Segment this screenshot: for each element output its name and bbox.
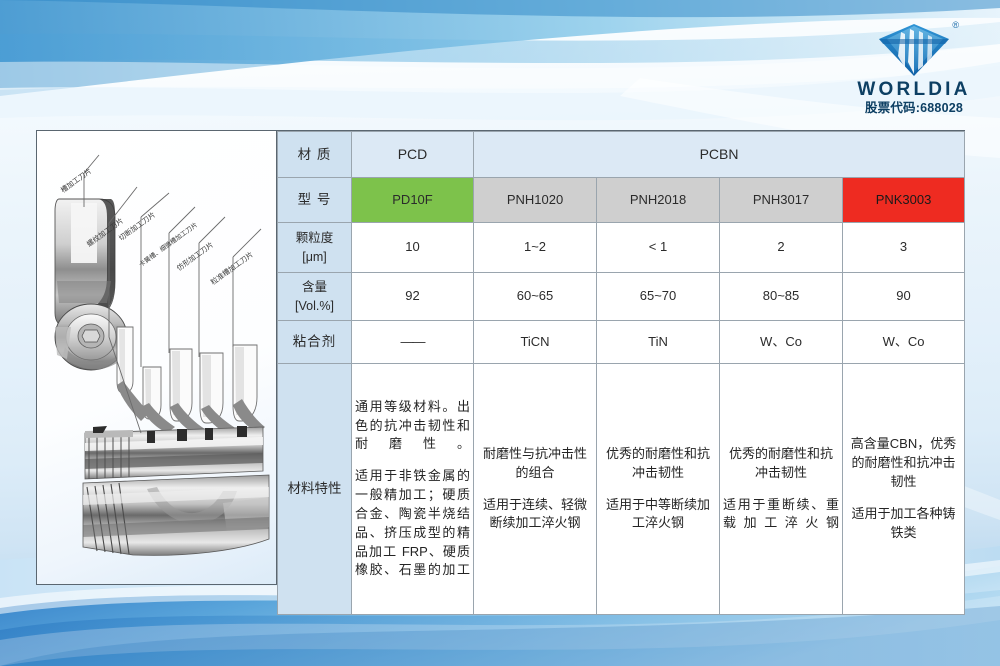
table-row-properties: 材料特性 通用等级材料。出色的抗冲击韧性和耐磨性。 适用于非铁金属的一般精加工；…	[278, 364, 965, 615]
material-group-pcd: PCD	[352, 132, 474, 178]
properties-para-0-1: 适用于非铁金属的一般精加工；硬质合金、陶瓷半烧结品、挤压成型的精品加工 FRP、…	[355, 467, 470, 580]
properties-para-2-0: 优秀的耐磨性和抗冲击韧性	[600, 445, 716, 483]
grain-cell-2: < 1	[597, 223, 720, 273]
row-label-model: 型 号	[278, 178, 352, 223]
content-cell-0: 92	[352, 273, 474, 321]
table-row-model: 型 号 PD10F PNH1020 PNH2018 PNH3017 PNK300…	[278, 178, 965, 223]
table-row-binder: 粘合剂 —— TiCN TiN W、Co W、Co	[278, 321, 965, 364]
diagram-label-4: 仿形加工刀片	[175, 240, 215, 273]
properties-para-1-1: 适用于连续、轻微断续加工淬火钢	[477, 496, 593, 534]
grain-label-unit: [μm]	[281, 248, 348, 266]
table-row-content: 含量 [Vol.%] 92 60~65 65~70 80~85 90	[278, 273, 965, 321]
properties-cell-1: 耐磨性与抗冲击性的组合 适用于连续、轻微断续加工淬火钢	[474, 364, 597, 615]
properties-cell-0: 通用等级材料。出色的抗冲击韧性和耐磨性。 适用于非铁金属的一般精加工；硬质合金、…	[352, 364, 474, 615]
row-label-grain-size: 颗粒度 [μm]	[278, 223, 352, 273]
model-cell-pnh3017[interactable]: PNH3017	[720, 178, 843, 223]
properties-cell-2: 优秀的耐磨性和抗冲击韧性 适用于中等断续加工淬火钢	[597, 364, 720, 615]
grain-cell-3: 2	[720, 223, 843, 273]
binder-cell-0: ——	[352, 321, 474, 364]
tool-illustration-pane: 槽加工刀片 螺纹加工刀片 切断加工刀片 卡簧槽、细微槽加工刀片 仿形加工刀片 粒…	[37, 131, 277, 584]
row-label-binder: 粘合剂	[278, 321, 352, 364]
binder-cell-3: W、Co	[720, 321, 843, 364]
content-label-main: 含量	[281, 278, 348, 296]
content-cell-1: 60~65	[474, 273, 597, 321]
properties-para-3-1: 适用于重断续、重载加工淬火钢	[723, 496, 839, 534]
row-label-content: 含量 [Vol.%]	[278, 273, 352, 321]
table-row-grain-size: 颗粒度 [μm] 10 1~2 < 1 2 3	[278, 223, 965, 273]
grain-label-main: 颗粒度	[281, 229, 348, 247]
properties-para-1-0: 耐磨性与抗冲击性的组合	[477, 445, 593, 483]
model-cell-pnk3003[interactable]: PNK3003	[843, 178, 965, 223]
workpiece-shaft	[83, 426, 269, 555]
material-spec-table: 材 质 PCD PCBN 型 号 PD10F PNH1020 PNH2018 P…	[277, 131, 965, 615]
binder-cell-1: TiCN	[474, 321, 597, 364]
grain-cell-0: 10	[352, 223, 474, 273]
model-cell-pnh2018[interactable]: PNH2018	[597, 178, 720, 223]
brand-logo: ® WORLDIA 股票代码:688028	[848, 22, 980, 115]
row-label-properties: 材料特性	[278, 364, 352, 615]
diagram-label-5: 粒准槽加工刀片	[209, 250, 255, 287]
content-cell-2: 65~70	[597, 273, 720, 321]
content-cell-3: 80~85	[720, 273, 843, 321]
row-label-material: 材 质	[278, 132, 352, 178]
properties-cell-3: 优秀的耐磨性和抗冲击韧性 适用于重断续、重载加工淬火钢	[720, 364, 843, 615]
diamond-logo-icon: ®	[877, 22, 951, 78]
insert-tooling-diagram: 槽加工刀片 螺纹加工刀片 切断加工刀片 卡簧槽、细微槽加工刀片 仿形加工刀片 粒…	[37, 131, 277, 583]
diagram-label-0: 槽加工刀片	[59, 166, 93, 194]
model-cell-pd10f[interactable]: PD10F	[352, 178, 474, 223]
properties-para-4-1: 适用于加工各种铸铁类	[846, 505, 961, 543]
properties-para-3-0: 优秀的耐磨性和抗冲击韧性	[723, 445, 839, 483]
binder-cell-2: TiN	[597, 321, 720, 364]
properties-para-4-0: 高含量CBN，优秀的耐磨性和抗冲击韧性	[846, 435, 961, 492]
model-cell-pnh1020[interactable]: PNH1020	[474, 178, 597, 223]
binder-cell-4: W、Co	[843, 321, 965, 364]
properties-cell-4: 高含量CBN，优秀的耐磨性和抗冲击韧性 适用于加工各种铸铁类	[843, 364, 965, 615]
spec-sheet-frame: 槽加工刀片 螺纹加工刀片 切断加工刀片 卡簧槽、细微槽加工刀片 仿形加工刀片 粒…	[36, 130, 965, 585]
table-row-material: 材 质 PCD PCBN	[278, 132, 965, 178]
material-group-pcbn: PCBN	[474, 132, 965, 178]
content-cell-4: 90	[843, 273, 965, 321]
properties-para-0-0: 通用等级材料。出色的抗冲击韧性和耐磨性。	[355, 398, 470, 455]
content-label-unit: [Vol.%]	[281, 297, 348, 315]
rotary-disc-part	[55, 304, 127, 370]
properties-para-2-1: 适用于中等断续加工淬火钢	[600, 496, 716, 534]
grain-cell-4: 3	[843, 223, 965, 273]
diagram-label-2: 切断加工刀片	[117, 210, 157, 243]
brand-name: WORLDIA	[848, 80, 980, 99]
registered-mark: ®	[952, 20, 959, 30]
grain-cell-1: 1~2	[474, 223, 597, 273]
stock-code: 股票代码:688028	[848, 102, 980, 115]
